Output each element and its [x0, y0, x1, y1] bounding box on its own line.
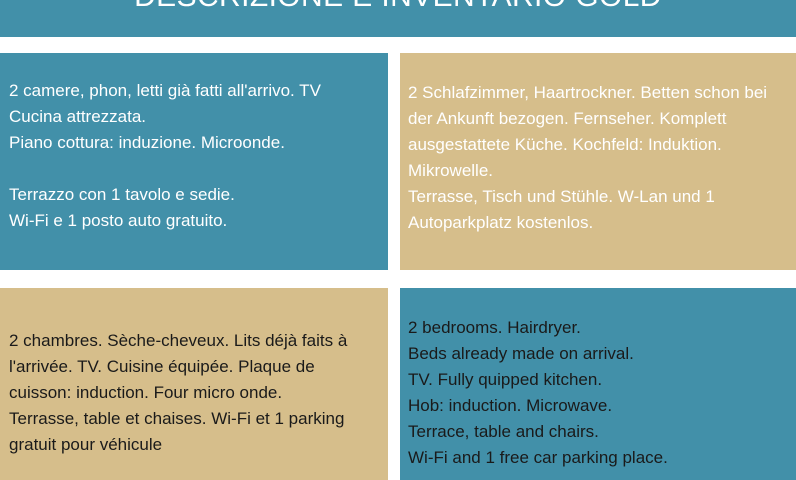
panel-italian: 2 camere, phon, letti già fatti all'arri…: [0, 53, 388, 270]
page-title: DESCRIZIONE E INVENTARIO GOLD: [0, 0, 796, 12]
slide: DESCRIZIONE E INVENTARIO GOLD 2 camere, …: [0, 0, 796, 480]
panel-german-text: 2 Schlafzimmer, Haartrockner. Betten sch…: [408, 80, 786, 236]
panel-english: 2 bedrooms. Hairdryer. Beds already made…: [400, 288, 796, 480]
panel-french-text: 2 chambres. Sèche-cheveux. Lits déjà fai…: [9, 328, 376, 458]
panel-english-text: 2 bedrooms. Hairdryer. Beds already made…: [408, 315, 786, 471]
panel-italian-text: 2 camere, phon, letti già fatti all'arri…: [9, 78, 378, 234]
panel-german: 2 Schlafzimmer, Haartrockner. Betten sch…: [400, 53, 796, 270]
header-band: DESCRIZIONE E INVENTARIO GOLD: [0, 0, 796, 37]
panel-french: 2 chambres. Sèche-cheveux. Lits déjà fai…: [0, 288, 388, 480]
